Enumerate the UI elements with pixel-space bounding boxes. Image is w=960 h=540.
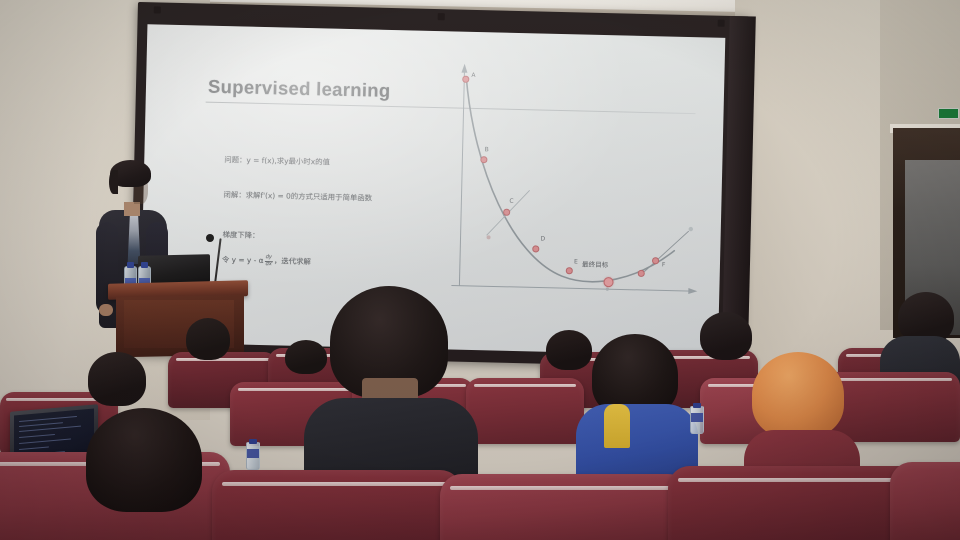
microphone-icon xyxy=(206,234,214,242)
seat-front-2-piping xyxy=(222,482,452,486)
attendee-far-3-hair xyxy=(546,330,592,370)
seat-mid-2-piping xyxy=(238,388,350,391)
laptop-code-line-2 xyxy=(19,422,63,427)
laptop-code-line-3 xyxy=(19,426,81,433)
bottle-seat-cap-left xyxy=(249,439,257,444)
laptop-code-line-5 xyxy=(19,439,71,445)
seat-mid-6-piping xyxy=(824,378,952,381)
exit-sign-icon xyxy=(938,108,959,119)
lecture-hall-scene: Supervised learning 问题：y = f(x),求y最小时x的值… xyxy=(0,0,960,540)
water-bottle-seat-left xyxy=(246,442,260,470)
screen-mount-right xyxy=(718,20,725,27)
attendee-mid-1-hair xyxy=(88,352,146,406)
attendee-mid-right-collar xyxy=(604,404,630,448)
attendee-far-1-hair xyxy=(186,318,230,360)
right-wall xyxy=(735,0,895,400)
screen-mount-center xyxy=(438,13,445,20)
bottle-seat-label-right xyxy=(691,413,703,422)
seat-mid-4[interactable] xyxy=(466,378,584,444)
seat-far-1-piping xyxy=(176,358,270,361)
presenter-hand xyxy=(99,304,113,316)
laptop-code-line-6 xyxy=(19,446,49,450)
presenter-hair-side xyxy=(109,170,118,194)
laptop-code-line-4 xyxy=(19,434,55,439)
presenter-left-arm xyxy=(96,222,118,314)
screen-mount-left xyxy=(154,6,161,13)
seat-mid-4-piping xyxy=(474,384,576,387)
laptop-code-line-1 xyxy=(19,416,77,422)
bottle-seat-cap-right xyxy=(693,403,701,408)
attendee-front-left-hair xyxy=(86,408,202,512)
bottle-cap-1 xyxy=(127,262,134,268)
bottle-cap-2 xyxy=(141,262,148,268)
seat-front-2[interactable] xyxy=(212,470,462,540)
seat-front-3[interactable] xyxy=(440,474,690,540)
bottle-seat-label-left xyxy=(247,449,259,458)
water-bottle-seat-right xyxy=(690,406,704,434)
seat-front-3-piping xyxy=(450,486,680,490)
seat-front-5[interactable] xyxy=(890,462,960,540)
seat-front-4-piping xyxy=(678,478,914,482)
attendee-far-2-hair xyxy=(285,340,327,374)
attendee-far-4-hair xyxy=(700,312,752,360)
